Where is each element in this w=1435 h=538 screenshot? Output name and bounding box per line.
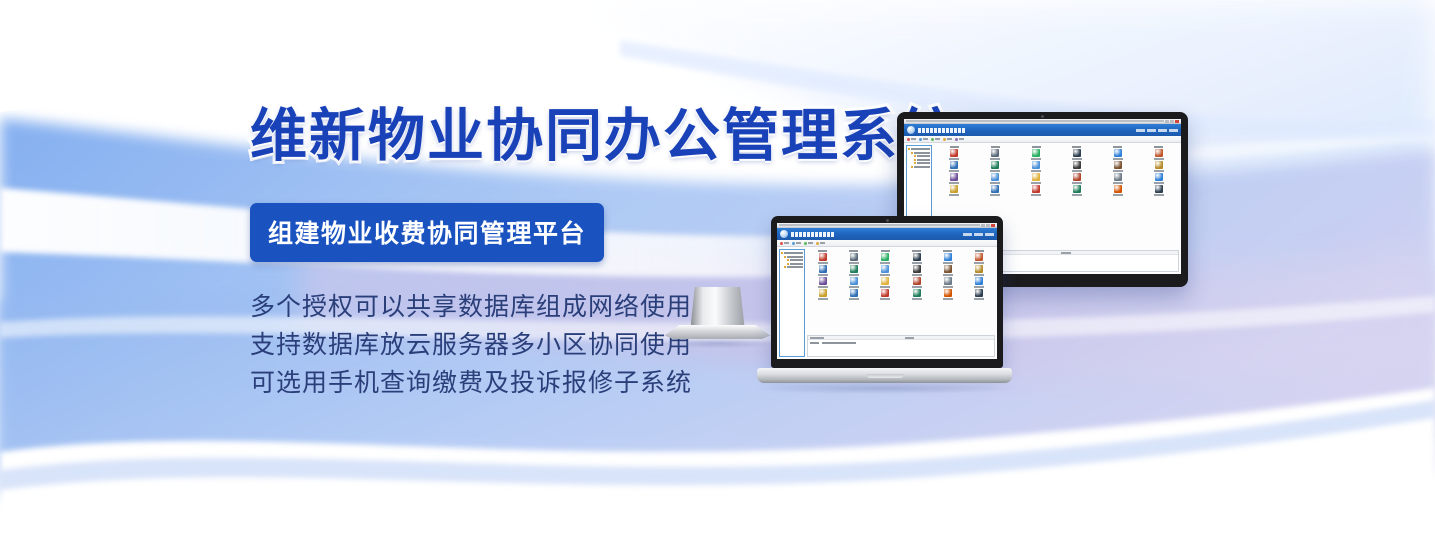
module-label xyxy=(1031,158,1041,160)
tree-node xyxy=(908,152,930,154)
module-label xyxy=(880,262,890,264)
module-label xyxy=(974,286,984,288)
module-group-label xyxy=(1154,146,1163,148)
module-glyph-icon xyxy=(944,265,952,273)
module-label xyxy=(849,262,859,264)
toolbar-button-5[interactable] xyxy=(955,138,964,141)
tree-node xyxy=(781,252,803,254)
module-icon-grid[interactable] xyxy=(807,249,995,334)
module-glyph-icon xyxy=(1114,185,1122,193)
module-label xyxy=(943,274,953,276)
module-label xyxy=(912,274,922,276)
module-glyph-icon xyxy=(1032,185,1040,193)
module-glyph-icon xyxy=(850,277,858,285)
module-glyph-icon xyxy=(950,185,958,193)
module-icon[interactable] xyxy=(1016,161,1057,172)
module-glyph-icon xyxy=(1032,149,1040,157)
module-label xyxy=(1113,182,1123,184)
module-icon[interactable] xyxy=(1056,185,1097,196)
module-icon[interactable] xyxy=(964,250,995,264)
laptop-camera-icon xyxy=(886,219,889,222)
module-label xyxy=(1154,194,1164,196)
module-group-label xyxy=(1113,146,1122,148)
module-icon[interactable] xyxy=(934,161,975,172)
module-label xyxy=(912,286,922,288)
module-icon[interactable] xyxy=(934,185,975,196)
module-icon[interactable] xyxy=(964,277,995,288)
app-banner-title xyxy=(918,128,965,133)
tree-node xyxy=(908,155,930,157)
module-label xyxy=(1113,158,1123,160)
module-glyph-icon xyxy=(850,265,858,273)
module-icon[interactable] xyxy=(932,277,963,288)
module-label xyxy=(880,274,890,276)
module-label xyxy=(949,182,959,184)
navigation-tree[interactable] xyxy=(779,249,805,357)
module-label xyxy=(1113,194,1123,196)
module-icon[interactable] xyxy=(975,173,1016,184)
module-icon[interactable] xyxy=(964,289,995,300)
laptop-lid xyxy=(771,216,1003,368)
module-icon[interactable] xyxy=(1138,185,1179,196)
module-glyph-icon xyxy=(950,173,958,181)
module-glyph-icon xyxy=(991,173,999,181)
module-group-label xyxy=(975,250,984,252)
module-group-label xyxy=(912,250,921,252)
module-icon[interactable] xyxy=(1097,185,1138,196)
app-window-laptop xyxy=(777,223,997,359)
tree-node xyxy=(781,266,803,268)
module-glyph-icon xyxy=(944,277,952,285)
module-glyph-icon xyxy=(991,149,999,157)
module-icon[interactable] xyxy=(1016,185,1057,196)
module-label xyxy=(1031,194,1041,196)
app-body xyxy=(777,247,997,359)
module-label xyxy=(943,262,953,264)
module-glyph-icon xyxy=(881,253,889,261)
module-glyph-icon xyxy=(913,265,921,273)
tree-node xyxy=(781,263,803,265)
module-icon[interactable] xyxy=(870,289,901,300)
app-bottom-panel xyxy=(807,335,995,357)
module-label xyxy=(1072,194,1082,196)
module-icon[interactable] xyxy=(838,265,869,276)
module-icon[interactable] xyxy=(901,250,932,264)
close-icon[interactable] xyxy=(991,224,995,227)
module-icon[interactable] xyxy=(1016,173,1057,184)
module-icon[interactable] xyxy=(807,250,838,264)
module-glyph-icon xyxy=(913,253,921,261)
module-group-label xyxy=(991,146,1000,148)
module-glyph-icon xyxy=(881,277,889,285)
minimize-icon[interactable] xyxy=(1165,120,1169,123)
module-label xyxy=(990,158,1000,160)
module-glyph-icon xyxy=(819,265,827,273)
module-glyph-icon xyxy=(1114,161,1122,169)
module-glyph-icon xyxy=(991,185,999,193)
module-label xyxy=(1031,170,1041,172)
module-icon[interactable] xyxy=(932,289,963,300)
module-label xyxy=(818,298,828,300)
module-icon[interactable] xyxy=(1016,146,1057,160)
module-icon[interactable] xyxy=(964,265,995,276)
module-glyph-icon xyxy=(881,289,889,297)
module-glyph-icon xyxy=(850,253,858,261)
maximize-icon[interactable] xyxy=(986,224,990,227)
module-icon[interactable] xyxy=(1138,173,1179,184)
module-label xyxy=(990,182,1000,184)
module-label xyxy=(974,274,984,276)
module-glyph-icon xyxy=(950,149,958,157)
monitor-camera-icon xyxy=(1041,115,1044,118)
tree-node xyxy=(908,148,930,150)
toolbar-button-2[interactable] xyxy=(792,242,801,245)
module-label xyxy=(1072,182,1082,184)
module-icon[interactable] xyxy=(932,250,963,264)
module-glyph-icon xyxy=(975,277,983,285)
toolbar-button-3[interactable] xyxy=(931,138,940,141)
module-label xyxy=(1113,170,1123,172)
module-group-label xyxy=(818,250,827,252)
module-glyph-icon xyxy=(819,253,827,261)
app-window-title xyxy=(906,120,1164,122)
module-icon[interactable] xyxy=(975,161,1016,172)
module-icon[interactable] xyxy=(870,277,901,288)
module-glyph-icon xyxy=(1073,185,1081,193)
module-label xyxy=(849,298,859,300)
minimize-icon[interactable] xyxy=(981,224,985,227)
module-icon[interactable] xyxy=(901,289,932,300)
laptop-screen xyxy=(777,223,997,359)
module-label xyxy=(990,194,1000,196)
device-mockups xyxy=(0,0,1435,538)
module-glyph-icon xyxy=(975,265,983,273)
module-icon[interactable] xyxy=(1056,161,1097,172)
app-header-actions[interactable] xyxy=(1136,129,1178,132)
module-label xyxy=(943,298,953,300)
module-label xyxy=(1154,182,1164,184)
monitor-stand-base xyxy=(665,325,771,339)
module-label xyxy=(990,170,1000,172)
module-icon[interactable] xyxy=(807,265,838,276)
laptop-shadow xyxy=(751,383,1018,394)
toolbar-button-4[interactable] xyxy=(943,138,952,141)
module-glyph-icon xyxy=(950,161,958,169)
module-icon[interactable] xyxy=(1097,173,1138,184)
app-toolbar[interactable] xyxy=(904,136,1181,143)
module-glyph-icon xyxy=(1073,173,1081,181)
module-label xyxy=(1072,158,1082,160)
module-icon[interactable] xyxy=(932,265,963,276)
module-icon[interactable] xyxy=(870,250,901,264)
monitor-stand-neck xyxy=(691,287,745,327)
app-window-title xyxy=(779,224,980,226)
module-glyph-icon xyxy=(1155,161,1163,169)
module-label xyxy=(818,286,828,288)
module-label xyxy=(912,262,922,264)
tree-node xyxy=(908,162,930,164)
close-icon[interactable] xyxy=(1175,120,1179,123)
tree-node xyxy=(908,166,930,168)
module-glyph-icon xyxy=(1073,149,1081,157)
module-label xyxy=(1154,170,1164,172)
module-glyph-icon xyxy=(850,289,858,297)
module-glyph-icon xyxy=(991,161,999,169)
module-icon[interactable] xyxy=(1138,146,1179,160)
module-group-label xyxy=(950,146,959,148)
app-banner-title xyxy=(791,232,834,237)
module-icon[interactable] xyxy=(838,277,869,288)
module-label xyxy=(1031,182,1041,184)
module-label xyxy=(880,286,890,288)
module-icon[interactable] xyxy=(1138,161,1179,172)
module-group-label xyxy=(1032,146,1041,148)
module-icon[interactable] xyxy=(807,289,838,300)
module-icon[interactable] xyxy=(1056,173,1097,184)
module-icon[interactable] xyxy=(975,185,1016,196)
module-label xyxy=(818,262,828,264)
module-icon[interactable] xyxy=(870,265,901,276)
module-label xyxy=(949,158,959,160)
tree-node xyxy=(908,159,930,161)
module-glyph-icon xyxy=(1073,161,1081,169)
module-icon[interactable] xyxy=(1056,146,1097,160)
module-label xyxy=(1072,170,1082,172)
module-glyph-icon xyxy=(975,289,983,297)
module-label xyxy=(912,298,922,300)
module-glyph-icon xyxy=(881,265,889,273)
module-glyph-icon xyxy=(913,289,921,297)
app-logo-icon xyxy=(907,126,915,134)
toolbar-button-1[interactable] xyxy=(907,138,916,141)
bottom-panel-row xyxy=(808,340,994,346)
tree-node xyxy=(781,256,803,258)
app-main-panel xyxy=(806,247,997,359)
module-icon[interactable] xyxy=(1097,161,1138,172)
module-icon[interactable] xyxy=(901,265,932,276)
module-label xyxy=(880,298,890,300)
module-glyph-icon xyxy=(913,277,921,285)
maximize-icon[interactable] xyxy=(1170,120,1174,123)
module-glyph-icon xyxy=(944,289,952,297)
module-glyph-icon xyxy=(819,277,827,285)
module-label xyxy=(949,194,959,196)
laptop-trackpad-notch xyxy=(866,374,904,378)
module-group-label xyxy=(943,250,952,252)
toolbar-button-4[interactable] xyxy=(816,242,825,245)
module-group-label xyxy=(881,250,890,252)
module-label xyxy=(849,274,859,276)
module-icon[interactable] xyxy=(838,289,869,300)
toolbar-button-2[interactable] xyxy=(919,138,928,141)
app-header-banner xyxy=(904,124,1181,136)
module-icon[interactable] xyxy=(838,250,869,264)
app-header-banner xyxy=(777,228,997,240)
module-glyph-icon xyxy=(1155,173,1163,181)
toolbar-button-3[interactable] xyxy=(804,242,813,245)
module-icon[interactable] xyxy=(934,146,975,160)
module-label xyxy=(949,170,959,172)
module-group-label xyxy=(849,250,858,252)
module-label xyxy=(818,274,828,276)
module-label xyxy=(943,286,953,288)
module-glyph-icon xyxy=(1114,149,1122,157)
module-glyph-icon xyxy=(1032,173,1040,181)
module-icon[interactable] xyxy=(901,277,932,288)
module-label xyxy=(1154,158,1164,160)
laptop xyxy=(757,216,1012,396)
module-icon[interactable] xyxy=(975,146,1016,160)
tree-node xyxy=(781,259,803,261)
module-glyph-icon xyxy=(1155,185,1163,193)
module-icon[interactable] xyxy=(807,277,838,288)
module-glyph-icon xyxy=(819,289,827,297)
module-label xyxy=(849,286,859,288)
promo-banner: 维新物业协同办公管理系统 组建物业收费协同管理平台 多个授权可以共享数据库组成网… xyxy=(0,0,1435,538)
app-toolbar[interactable] xyxy=(777,240,997,247)
module-glyph-icon xyxy=(1032,161,1040,169)
module-icon[interactable] xyxy=(934,173,975,184)
module-group-label xyxy=(1072,146,1081,148)
app-header-actions[interactable] xyxy=(963,233,994,236)
module-glyph-icon xyxy=(1114,173,1122,181)
module-label xyxy=(974,298,984,300)
module-icon[interactable] xyxy=(1097,146,1138,160)
module-glyph-icon xyxy=(944,253,952,261)
module-glyph-icon xyxy=(975,253,983,261)
app-logo-icon xyxy=(780,230,788,238)
toolbar-button-1[interactable] xyxy=(780,242,789,245)
module-label xyxy=(974,262,984,264)
module-glyph-icon xyxy=(1155,149,1163,157)
